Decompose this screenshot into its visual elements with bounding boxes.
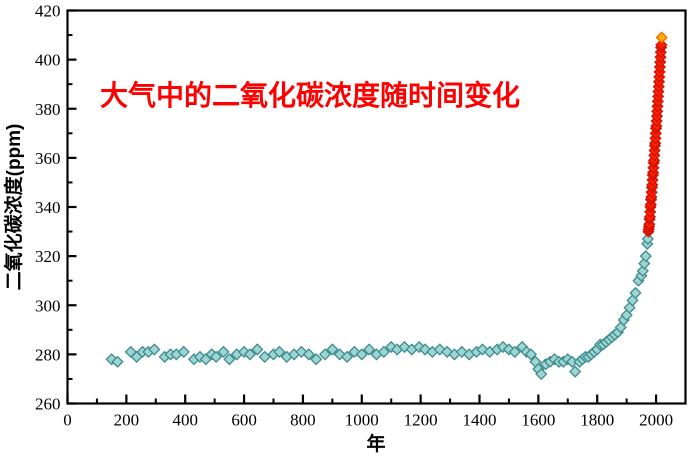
chart-figure: 260280300320340360380400420 020040060080…: [0, 0, 700, 457]
chart-background: [0, 0, 700, 457]
y-tick-label: 280: [35, 345, 61, 364]
co2-concentration-chart: 260280300320340360380400420 020040060080…: [0, 0, 700, 457]
x-tick-label: 1800: [580, 411, 614, 430]
y-tick-label: 320: [35, 247, 61, 266]
y-tick-label: 300: [35, 296, 61, 315]
y-tick-label: 400: [35, 51, 61, 70]
y-axis-tick-labels: 260280300320340360380400420: [35, 2, 61, 414]
x-tick-label: 0: [63, 411, 72, 430]
y-tick-label: 420: [35, 2, 61, 21]
x-tick-label: 800: [290, 411, 316, 430]
x-tick-label: 1600: [521, 411, 555, 430]
x-tick-label: 400: [172, 411, 198, 430]
y-tick-label: 260: [35, 395, 61, 414]
x-tick-label: 200: [114, 411, 140, 430]
x-tick-label: 1400: [463, 411, 497, 430]
chart-title: 大气中的二氧化碳浓度随时间变化: [100, 79, 520, 111]
x-tick-label: 2000: [639, 411, 673, 430]
x-tick-label: 1200: [404, 411, 438, 430]
x-tick-label: 1000: [345, 411, 379, 430]
y-tick-label: 340: [35, 198, 61, 217]
y-tick-label: 360: [35, 149, 61, 168]
x-tick-label: 600: [231, 411, 257, 430]
x-axis-title: 年: [366, 432, 385, 455]
y-tick-label: 380: [35, 100, 61, 119]
y-axis-title: 二氧化碳浓度(ppm): [2, 124, 25, 291]
